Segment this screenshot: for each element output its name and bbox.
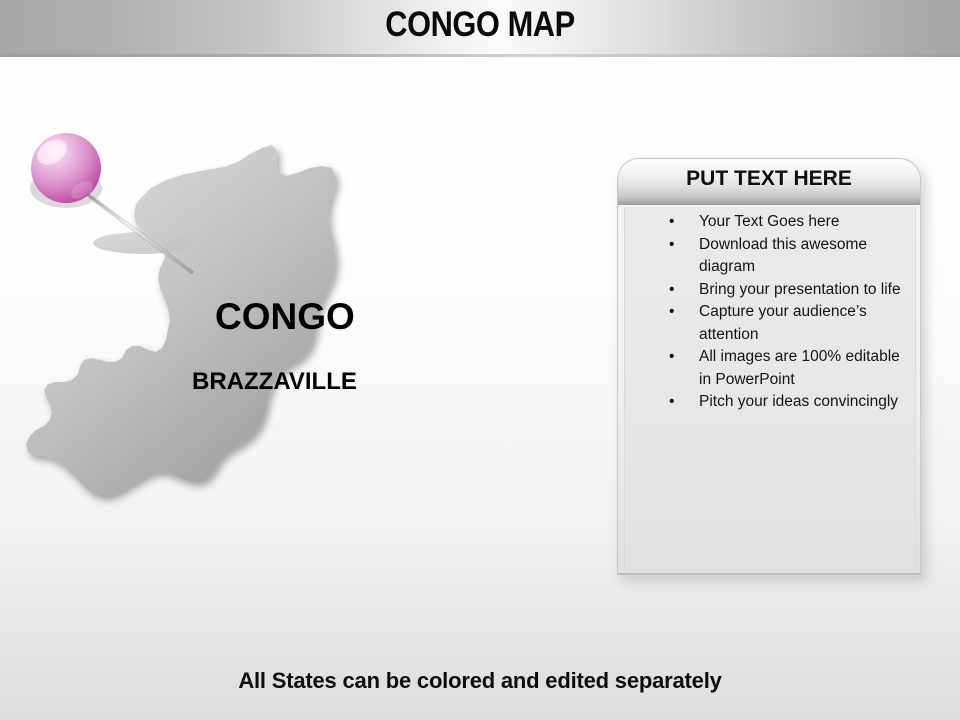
bullet-text: Pitch your ideas convincingly <box>699 393 898 410</box>
bullet-text: Download this awesome diagram <box>699 236 867 276</box>
bullet-marker-icon: • <box>669 211 674 234</box>
panel-frame: PUT TEXT HERE •Your Text Goes here•Downl… <box>617 158 921 575</box>
bullet-marker-icon: • <box>669 391 674 414</box>
map-label-country: CONGO <box>215 296 355 338</box>
bullet-text: Your Text Goes here <box>699 213 839 230</box>
bullet-text: All images are 100% editable in PowerPoi… <box>699 348 900 388</box>
bullet-item: •Capture your audience’s attention <box>625 301 917 346</box>
bullet-list: •Your Text Goes here•Download this aweso… <box>625 211 917 414</box>
bullet-text: Bring your presentation to life <box>699 281 901 298</box>
map-pin-icon <box>30 133 102 208</box>
bullet-marker-icon: • <box>669 301 674 324</box>
bullet-marker-icon: • <box>669 234 674 257</box>
slide-canvas: CONGO MAP <box>0 0 960 720</box>
bullet-item: •Download this awesome diagram <box>625 234 917 279</box>
bullet-item: •Bring your presentation to life <box>625 279 917 302</box>
bullet-marker-icon: • <box>669 279 674 302</box>
footer-note: All States can be colored and edited sep… <box>0 668 960 694</box>
bullet-item: •Your Text Goes here <box>625 211 917 234</box>
header-divider <box>0 54 960 57</box>
panel-header-title: PUT TEXT HERE <box>618 159 920 199</box>
bullet-marker-icon: • <box>669 346 674 369</box>
congo-map-graphic[interactable]: CONGO BRAZZAVILLE <box>10 110 410 530</box>
bullet-item: •All images are 100% editable in PowerPo… <box>625 346 917 391</box>
bullet-text: Capture your audience’s attention <box>699 303 867 343</box>
panel-body: •Your Text Goes here•Download this aweso… <box>624 207 916 570</box>
text-panel[interactable]: PUT TEXT HERE •Your Text Goes here•Downl… <box>617 158 921 575</box>
bullet-item: •Pitch your ideas convincingly <box>625 391 917 414</box>
page-title: CONGO MAP <box>58 0 903 54</box>
map-label-capital: BRAZZAVILLE <box>192 368 357 396</box>
panel-header-bar: PUT TEXT HERE <box>618 159 920 205</box>
